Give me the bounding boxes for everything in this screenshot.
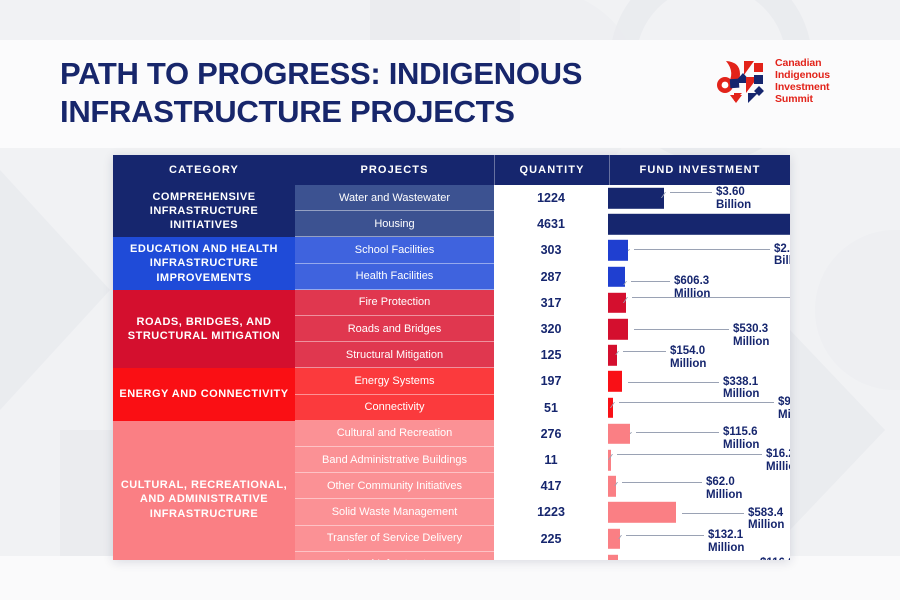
bg-shape-block-4 [60,430,120,560]
project-cell: Other Community Initiatives [295,473,494,499]
investment-bar [608,424,630,444]
investment-bar [608,450,611,470]
investment-cell [608,368,790,394]
quantity-cell: 169 [494,552,608,560]
investment-bar [608,555,618,560]
quantity-cell: 303 [494,237,608,263]
investment-bar [608,188,664,208]
bg-white-strip-bottom [0,556,900,600]
investment-bar [608,371,622,391]
column-header-investment: FUND INVESTMENT [609,155,790,185]
project-cell: Health Facilities [295,264,494,290]
investment-cell [608,237,790,263]
project-cell: Structural Mitigation [295,342,494,368]
table-row[interactable]: Housing4631 [295,211,790,237]
column-header-projects: PROJECTS [295,155,494,185]
investment-cell [608,342,790,368]
table-row[interactable]: Other Community Initiatives417 [295,473,790,499]
project-cell: School Facilities [295,237,494,263]
quantity-cell: 51 [494,395,608,421]
project-cell: Connectivity [295,395,494,421]
investment-cell [608,264,790,290]
investment-cell [608,395,790,421]
project-cell: Housing [295,211,494,237]
brand-logo: Canadian Indigenous Investment Summit [716,55,856,107]
investment-bar [608,214,790,234]
category-label: EDUCATION AND HEALTH INFRASTRUCTURE IMPR… [113,242,295,285]
logo-line-1: Canadian [775,57,830,69]
data-table-card: CATEGORY PROJECTS QUANTITY FUND INVESTME… [113,155,790,560]
table-row[interactable]: Fire Protection317 [295,290,790,316]
investment-bar [608,528,620,548]
category-cell: ROADS, BRIDGES, AND STRUCTURAL MITIGATIO… [113,290,295,369]
investment-cell [608,185,790,211]
table-row[interactable]: School Facilities303 [295,237,790,263]
investment-bar [608,502,676,522]
investment-bar [608,319,628,339]
investment-cell [608,552,790,560]
table-row[interactable]: Connectivity51 [295,395,790,421]
table-row[interactable]: Band Administrative Buildings11 [295,447,790,473]
investment-cell [608,526,790,552]
investment-bar [608,397,613,417]
table-body: COMPREHENSIVE INFRASTRUCTURE INITIATIVES… [113,185,790,560]
category-label: ENERGY AND CONNECTIVITY [113,387,294,401]
column-header-category: CATEGORY [113,155,295,185]
bg-shape-triangle-1 [0,170,110,410]
logo-line-2: Indigenous [775,69,830,81]
quantity-cell: 4631 [494,211,608,237]
category-label: COMPREHENSIVE INFRASTRUCTURE INITIATIVES [113,190,295,233]
investment-cell [608,211,790,237]
table-row[interactable]: Cultural and Recreation276 [295,421,790,447]
category-cell: EDUCATION AND HEALTH INFRASTRUCTURE IMPR… [113,237,295,289]
project-cell: Transfer of Service Delivery [295,526,494,552]
project-cell: Roads and Bridges [295,316,494,342]
page-title: PATH TO PROGRESS: INDIGENOUS INFRASTRUCT… [60,55,660,131]
table-row[interactable]: Roads and Bridges320 [295,316,790,342]
project-cell: Band Administrative Buildings [295,447,494,473]
category-label: CULTURAL, RECREATIONAL, AND ADMINISTRATI… [113,478,295,521]
quantity-cell: 317 [494,290,608,316]
investment-bar [608,476,616,496]
investment-cell [608,290,790,316]
quantity-cell: 1223 [494,499,608,525]
table-header-row: CATEGORY PROJECTS QUANTITY FUND INVESTME… [113,155,790,185]
quantity-cell: 11 [494,447,608,473]
category-cell: CULTURAL, RECREATIONAL, AND ADMINISTRATI… [113,421,295,560]
table-row[interactable]: Health Facilities287 [295,264,790,290]
investment-cell [608,316,790,342]
quantity-cell: 417 [494,473,608,499]
investment-cell [608,499,790,525]
table-row[interactable]: Transfer of Service Delivery225 [295,526,790,552]
page-title-line-1: PATH TO PROGRESS: INDIGENOUS [60,56,582,91]
quantity-cell: 197 [494,368,608,394]
project-cell: Energy Systems [295,368,494,394]
project-cell: Legal Infrastructure [295,552,494,560]
logo-wordmark: Canadian Indigenous Investment Summit [775,57,830,106]
investment-bar [608,345,617,365]
category-cell: COMPREHENSIVE INFRASTRUCTURE INITIATIVES [113,185,295,237]
project-cell: Solid Waste Management [295,499,494,525]
quantity-cell: 276 [494,421,608,447]
project-cell: Water and Wastewater [295,185,494,211]
column-header-quantity: QUANTITY [494,155,609,185]
investment-bar [608,266,625,286]
table-row[interactable]: Legal Infrastructure169 [295,552,790,560]
table-row[interactable]: Energy Systems197 [295,368,790,394]
summit-logomark-icon [716,57,768,105]
page-title-line-2: INFRASTRUCTURE PROJECTS [60,93,660,131]
table-row[interactable]: Structural Mitigation125 [295,342,790,368]
investment-cell [608,421,790,447]
quantity-cell: 287 [494,264,608,290]
project-cell: Cultural and Recreation [295,421,494,447]
investment-cell [608,447,790,473]
quantity-cell: 225 [494,526,608,552]
project-cell: Fire Protection [295,290,494,316]
logo-line-3: Investment [775,81,830,93]
category-cell: ENERGY AND CONNECTIVITY [113,368,295,420]
table-row[interactable]: Water and Wastewater1224 [295,185,790,211]
investment-bar [608,293,626,313]
quantity-cell: 125 [494,342,608,368]
quantity-cell: 320 [494,316,608,342]
category-label: ROADS, BRIDGES, AND STRUCTURAL MITIGATIO… [113,315,295,344]
investment-bar [608,240,628,260]
quantity-cell: 1224 [494,185,608,211]
logo-line-4: Summit [775,93,830,105]
investment-cell [608,473,790,499]
table-row[interactable]: Solid Waste Management1223 [295,499,790,525]
